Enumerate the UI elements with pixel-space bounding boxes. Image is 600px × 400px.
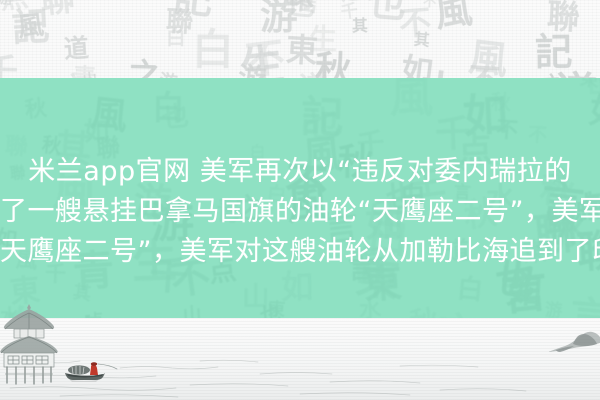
- calligraphy-glyph: 如: [0, 227, 18, 251]
- calligraphy-glyph: 点: [207, 257, 237, 287]
- calligraphy-glyph: 言: [348, 256, 375, 283]
- calligraphy-glyph: 不: [423, 0, 437, 9]
- calligraphy-glyph: 点: [575, 191, 600, 225]
- calligraphy-glyph: 白: [456, 277, 484, 305]
- calligraphy-glyph: 如: [281, 270, 314, 303]
- calligraphy-glyph: 風: [390, 78, 433, 119]
- green-overlay-band: 生言水青白如不也点白如言聯言也東東聯点秋風風青千東聯聯其山東也風秋言游白游秋千游…: [0, 78, 600, 318]
- calligraphy-glyph: 風: [433, 0, 474, 32]
- calligraphy-glyph: 道: [445, 239, 470, 264]
- calligraphy-glyph: 千: [44, 263, 66, 285]
- calligraphy-glyph: 生: [308, 25, 337, 54]
- calligraphy-glyph: 秋: [41, 135, 62, 156]
- calligraphy-glyph: 其: [72, 284, 92, 304]
- calligraphy-glyph: 秋: [284, 0, 317, 11]
- calligraphy-glyph: 不: [283, 163, 329, 209]
- calligraphy-glyph: 其: [290, 0, 309, 10]
- calligraphy-glyph: 秋: [338, 143, 374, 179]
- calligraphy-glyph: 山: [182, 306, 202, 318]
- calligraphy-glyph: 生: [131, 239, 177, 285]
- calligraphy-glyph: 道: [63, 36, 89, 62]
- calligraphy-glyph: 也: [366, 0, 409, 26]
- calligraphy-glyph: 東: [285, 34, 318, 67]
- calligraphy-bleed-through: 生言水青白如不也点白如言聯言也東東聯点秋風風青千東聯聯其山東也風秋言游白游秋千游…: [0, 78, 600, 318]
- calligraphy-glyph: 白: [166, 27, 186, 47]
- calligraphy-glyph: 秋: [24, 98, 48, 122]
- calligraphy-glyph: 如: [365, 203, 403, 241]
- calligraphy-glyph: 不: [398, 5, 433, 40]
- calligraphy-glyph: 游: [0, 0, 15, 6]
- calligraphy-glyph: 風: [15, 249, 38, 272]
- calligraphy-glyph: 也: [284, 0, 316, 19]
- calligraphy-glyph: 聯: [38, 0, 77, 19]
- calligraphy-glyph: 聯: [546, 0, 580, 34]
- calligraphy-glyph: 其: [414, 31, 431, 48]
- calligraphy-glyph: 秋: [409, 306, 440, 318]
- calligraphy-glyph: 山: [586, 78, 600, 98]
- calligraphy-glyph: 水: [486, 184, 515, 213]
- calligraphy-glyph: 風: [16, 14, 45, 43]
- calligraphy-glyph: 聯: [166, 8, 194, 36]
- calligraphy-glyph: 言: [294, 0, 321, 17]
- calligraphy-glyph: 言: [454, 184, 472, 202]
- calligraphy-glyph: 千: [144, 206, 166, 228]
- calligraphy-glyph: 青: [215, 198, 242, 225]
- calligraphy-glyph: 記: [11, 8, 50, 47]
- calligraphy-glyph: 也: [493, 257, 538, 302]
- calligraphy-glyph: 千: [435, 115, 472, 152]
- fishing-boat-icon: [62, 356, 118, 382]
- calligraphy-glyph: 点: [0, 0, 30, 13]
- calligraphy-glyph: 不: [528, 125, 548, 145]
- calligraphy-glyph: 記: [171, 0, 214, 22]
- calligraphy-glyph: 白: [151, 91, 184, 124]
- calligraphy-glyph: 千: [340, 3, 359, 22]
- calligraphy-glyph: 聯: [546, 211, 575, 240]
- calligraphy-glyph: 不: [244, 39, 287, 82]
- calligraphy-glyph: 言: [568, 295, 600, 318]
- calligraphy-glyph: 聯: [9, 165, 26, 182]
- calligraphy-glyph: 東: [267, 301, 285, 318]
- article-banner-image: 山聯東山也青秋之秋其也生其白東千秋道如不秋記也風之風不記風如風聯如白其記不其如東…: [0, 0, 600, 400]
- calligraphy-glyph: 言: [435, 311, 480, 318]
- calligraphy-glyph: 之: [338, 0, 365, 5]
- calligraphy-glyph: 白: [250, 144, 266, 160]
- calligraphy-glyph: 秋: [538, 173, 576, 211]
- distant-mountain-icon: [548, 330, 600, 360]
- calligraphy-glyph: 聯: [4, 136, 28, 160]
- calligraphy-glyph: 游: [260, 0, 298, 36]
- calligraphy-glyph: 風: [52, 167, 99, 214]
- calligraphy-glyph: 白: [192, 28, 234, 70]
- calligraphy-glyph: 其: [351, 18, 367, 34]
- calligraphy-glyph: 不: [495, 120, 519, 144]
- calligraphy-glyph: 山: [242, 284, 270, 312]
- calligraphy-glyph: 記: [534, 33, 572, 71]
- calligraphy-glyph: 風: [466, 39, 509, 82]
- calligraphy-glyph: 秋: [491, 93, 511, 113]
- calligraphy-glyph: 如: [84, 119, 110, 145]
- waterside-pavilion-icon: [0, 300, 58, 388]
